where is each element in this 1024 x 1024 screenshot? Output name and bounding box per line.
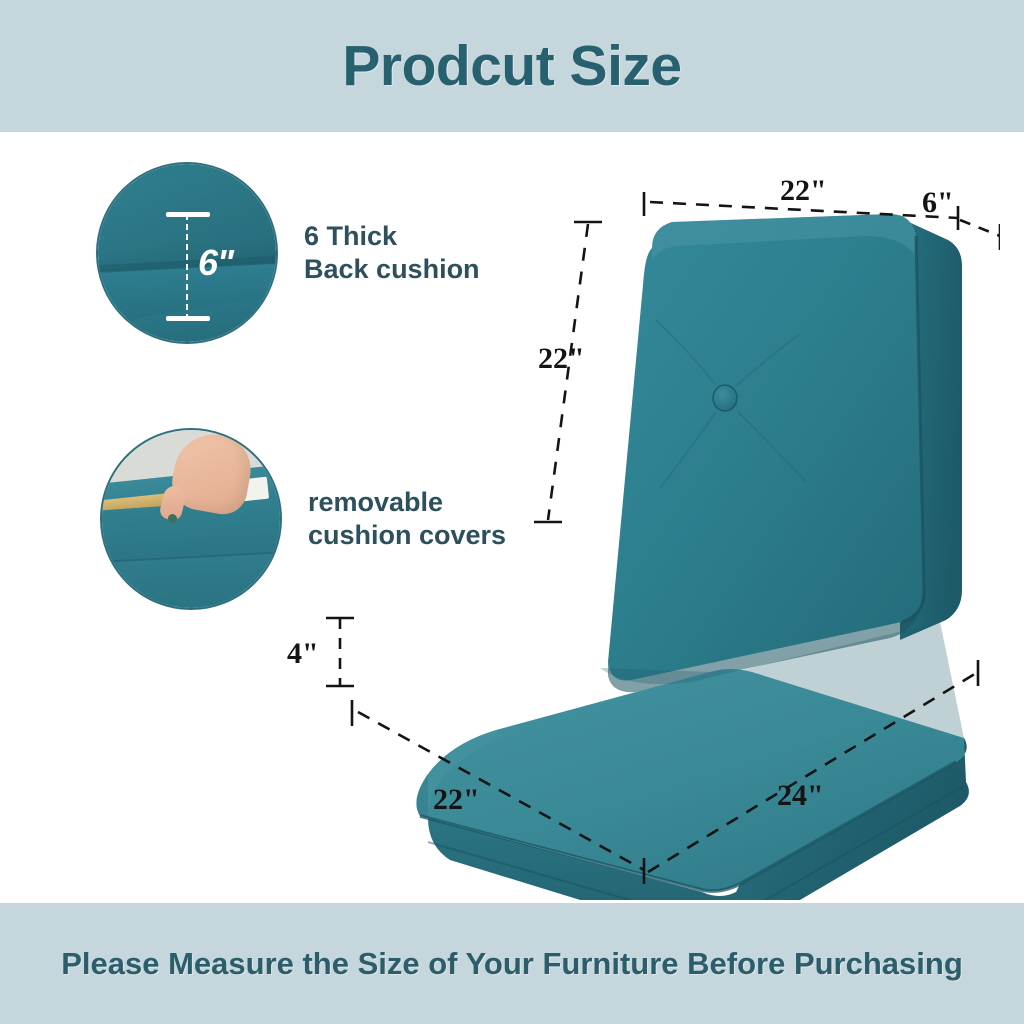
footer-band: Please Measure the Size of Your Furnitur… [0,903,1024,1024]
cushion-lower-panel [100,552,282,610]
dim-line-back-depth [960,220,1000,236]
back-cushion-front-face [608,214,924,681]
dimension-line-vertical [186,214,190,320]
page-title: Prodcut Size [342,38,681,95]
dimension-label-seat-width: 24" [777,779,824,813]
dimension-label-back-depth: 6" [922,186,954,220]
dimension-label-back-width: 22" [780,174,827,208]
inset-dimension-label: 6" [198,242,233,284]
thickness-inset-image: 6" [96,162,278,344]
tufted-button-icon [713,385,737,411]
dimension-label-back-height: 22" [538,342,585,376]
covers-inset-image [100,428,282,610]
header-band: Prodcut Size [0,0,1024,132]
infographic-page: Prodcut Size 6" 6 Thick Back cushion [0,0,1024,1024]
product-illustration [300,170,1000,900]
footer-message: Please Measure the Size of Your Furnitur… [21,944,1003,984]
zipper-pull-icon [168,514,177,523]
dimension-label-seat-depth: 22" [433,783,480,817]
dimension-cap-bottom [166,316,210,321]
dimension-label-seat-height: 4" [287,637,319,671]
